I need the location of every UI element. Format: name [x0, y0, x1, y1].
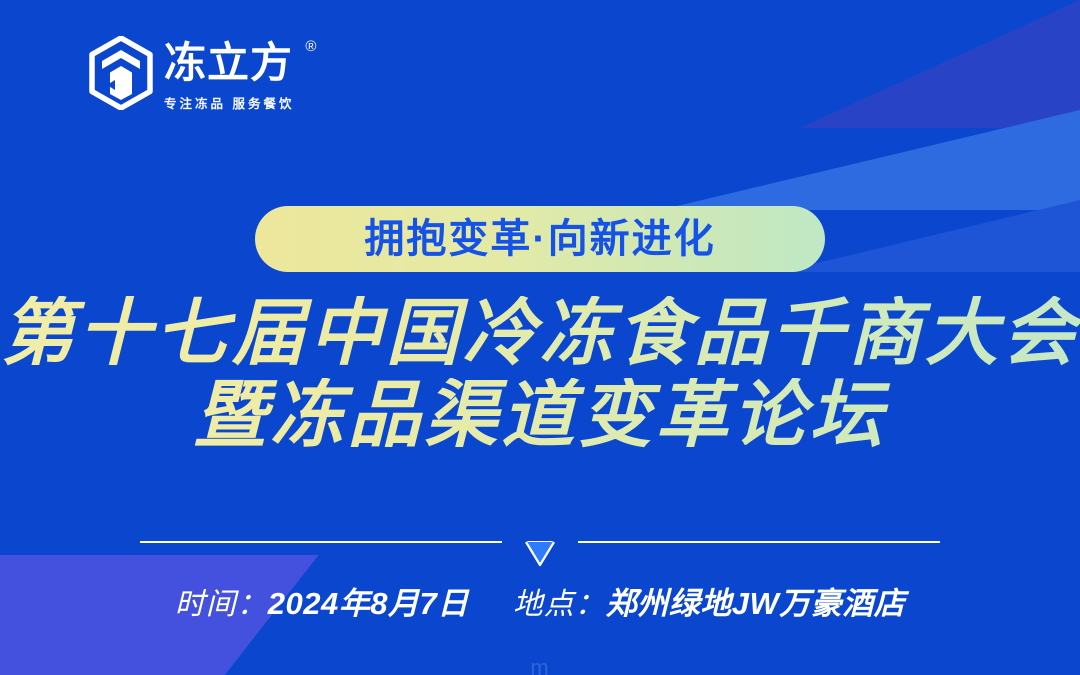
brand-name: 冻立方 [164, 42, 294, 84]
chevron-down-notch-icon [502, 541, 578, 567]
watermark: m [530, 655, 549, 675]
decor-triangle-top-right-light [660, 110, 1080, 210]
decor-triangle-top-right-dark [800, 0, 1080, 128]
divider [140, 541, 940, 567]
slogan-pill: 拥抱变革·向新进化 [255, 206, 825, 272]
page-title: 第十七届中国冷冻食品千商大会 暨冻品渠道变革论坛 [0, 296, 1080, 454]
decor-triangle-top-right-mid [780, 200, 1080, 272]
title-line-2: 暨冻品渠道变革论坛 [0, 378, 1080, 454]
time-value: 2024年8月7日 [268, 578, 469, 623]
event-details: 时间： 2024年8月7日 地点： 郑州绿地JW万豪酒店 [0, 578, 1080, 623]
registered-trademark-icon: ® [305, 38, 316, 55]
slogan-text: 拥抱变革·向新进化 [364, 219, 715, 259]
title-line-1: 第十七届中国冷冻食品千商大会 [0, 296, 1080, 372]
place-label: 地点： [513, 579, 606, 623]
brand-tagline: 专注冻品 服务餐饮 [164, 93, 294, 112]
brand-logo-group: 冻立方 ® 专注冻品 服务餐饮 [88, 36, 294, 112]
place-value: 郑州绿地JW万豪酒店 [606, 578, 906, 623]
hexagon-cube-logo-icon [88, 36, 154, 110]
conference-poster: 冻立方 ® 专注冻品 服务餐饮 拥抱变革·向新进化 第十七届中国冷冻食品千商大会… [0, 0, 1080, 675]
time-label: 时间： [175, 579, 268, 623]
brand-text-group: 冻立方 ® 专注冻品 服务餐饮 [164, 36, 294, 112]
